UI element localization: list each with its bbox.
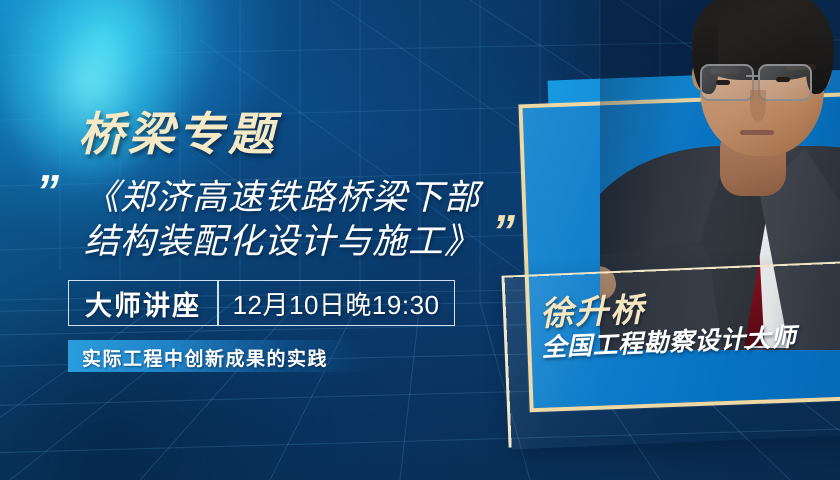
lecture-title-line-1: 《郑济高速铁路桥梁下部	[84, 176, 514, 220]
info-datetime: 12月10日晚19:30	[233, 285, 440, 322]
promotional-poster: 徐升桥 全国工程勘察设计大师 桥梁专题 ” ” 《郑济高速铁路桥梁下部 结构装配…	[0, 0, 840, 480]
topic-kicker: 桥梁专题	[78, 98, 278, 164]
quote-mark-open: ”	[36, 168, 59, 214]
subtitle-bar: 实际工程中创新成果的实践	[68, 340, 368, 372]
info-datetime-cell: 12月10日晚19:30	[219, 281, 454, 325]
lecture-info-box: 大师讲座 12月10日晚19:30	[68, 280, 455, 326]
subtitle-text: 实际工程中创新成果的实践	[82, 344, 328, 371]
info-label-cell: 大师讲座	[69, 281, 217, 325]
nameplate-text-group: 徐升桥 全国工程勘察设计大师	[539, 285, 797, 363]
lecture-title-line-2: 结构装配化设计与施工》	[84, 220, 514, 264]
speaker-nameplate: 徐升桥 全国工程勘察设计大师	[505, 263, 840, 450]
info-label: 大师讲座	[85, 284, 201, 323]
lecture-main-title: 《郑济高速铁路桥梁下部 结构装配化设计与施工》	[84, 176, 514, 264]
